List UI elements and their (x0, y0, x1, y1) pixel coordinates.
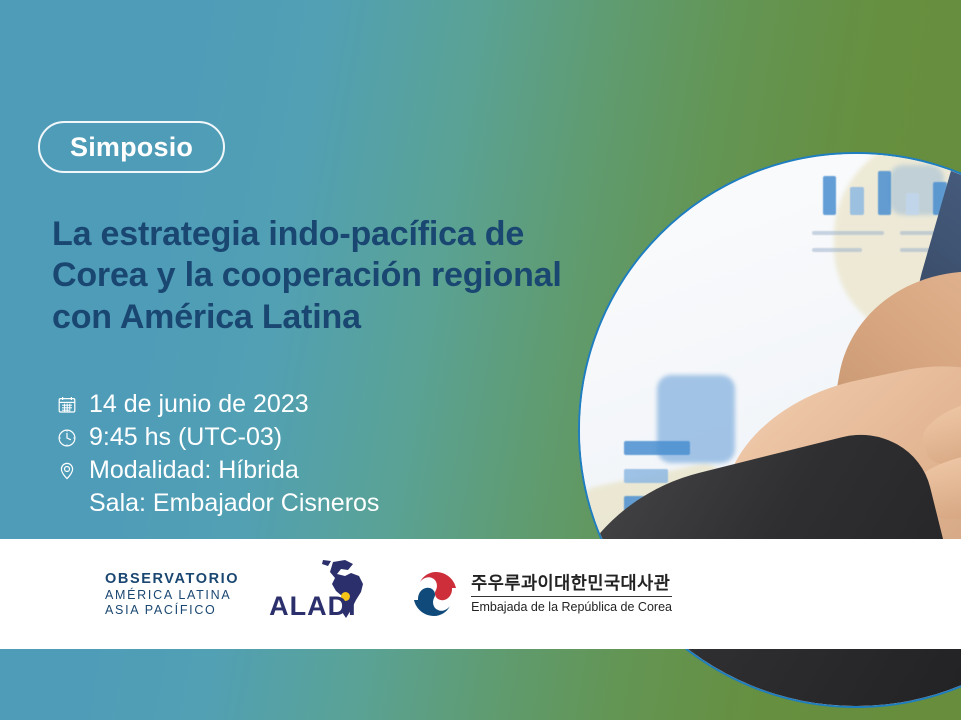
clock-icon (56, 427, 78, 449)
simposio-badge: Simposio (38, 121, 225, 173)
korea-spanish-text: Embajada de la República de Corea (471, 600, 672, 615)
chart-bar (878, 171, 891, 215)
event-poster: Simposio La estrategia indo-pacífica de … (0, 0, 961, 720)
chart-bar (850, 187, 863, 215)
observatorio-line-3: ASIA PACÍFICO (105, 603, 239, 618)
title-line-3: con América Latina (52, 297, 652, 338)
aladi-wordmark: ALADI (269, 591, 357, 622)
title-line-2: Corea y la cooperación regional (52, 255, 652, 296)
logo-observatorio: OBSERVATORIO AMÉRICA LATINA ASIA PACÍFIC… (45, 570, 239, 618)
detail-row-date: 14 de junio de 2023 (56, 388, 379, 421)
chart-bar (906, 193, 919, 215)
chart-bar (624, 469, 668, 483)
logo-band: OBSERVATORIO AMÉRICA LATINA ASIA PACÍFIC… (0, 539, 961, 649)
logo-row: OBSERVATORIO AMÉRICA LATINA ASIA PACÍFIC… (45, 539, 672, 649)
detail-row-time: 9:45 hs (UTC-03) (56, 421, 379, 454)
chart-bar (823, 176, 836, 215)
chart-line (812, 231, 884, 235)
observatorio-ring-icon (45, 570, 93, 618)
chart-bar (624, 441, 690, 455)
korea-korean-text: 주우루과이대한민국대사관 (471, 573, 672, 597)
korea-embassy-wordmark: 주우루과이대한민국대사관 Embajada de la República de… (471, 573, 672, 615)
page-title: La estrategia indo-pacífica de Corea y l… (52, 214, 652, 338)
taegeuk-icon (409, 568, 461, 620)
observatorio-line-2: AMÉRICA LATINA (105, 588, 239, 603)
location-pin-icon (56, 460, 78, 482)
observatorio-wordmark: OBSERVATORIO AMÉRICA LATINA ASIA PACÍFIC… (105, 571, 239, 618)
logo-korea-embassy: 주우루과이대한민국대사관 Embajada de la República de… (409, 568, 672, 620)
event-details: 14 de junio de 2023 9:45 hs (UTC-03) (56, 388, 379, 520)
detail-row-room: Sala: Embajador Cisneros (56, 487, 379, 520)
chart-line (812, 248, 862, 252)
detail-text-room: Sala: Embajador Cisneros (89, 487, 379, 520)
calendar-icon (56, 394, 78, 416)
detail-text-modality: Modalidad: Híbrida (89, 454, 299, 487)
observatorio-line-1: OBSERVATORIO (105, 571, 239, 588)
logo-aladi: ALADI (269, 558, 379, 630)
detail-text-time: 9:45 hs (UTC-03) (89, 421, 282, 454)
detail-text-date: 14 de junio de 2023 (89, 388, 309, 421)
detail-row-modality: Modalidad: Híbrida (56, 454, 379, 487)
title-line-1: La estrategia indo-pacífica de (52, 214, 652, 255)
